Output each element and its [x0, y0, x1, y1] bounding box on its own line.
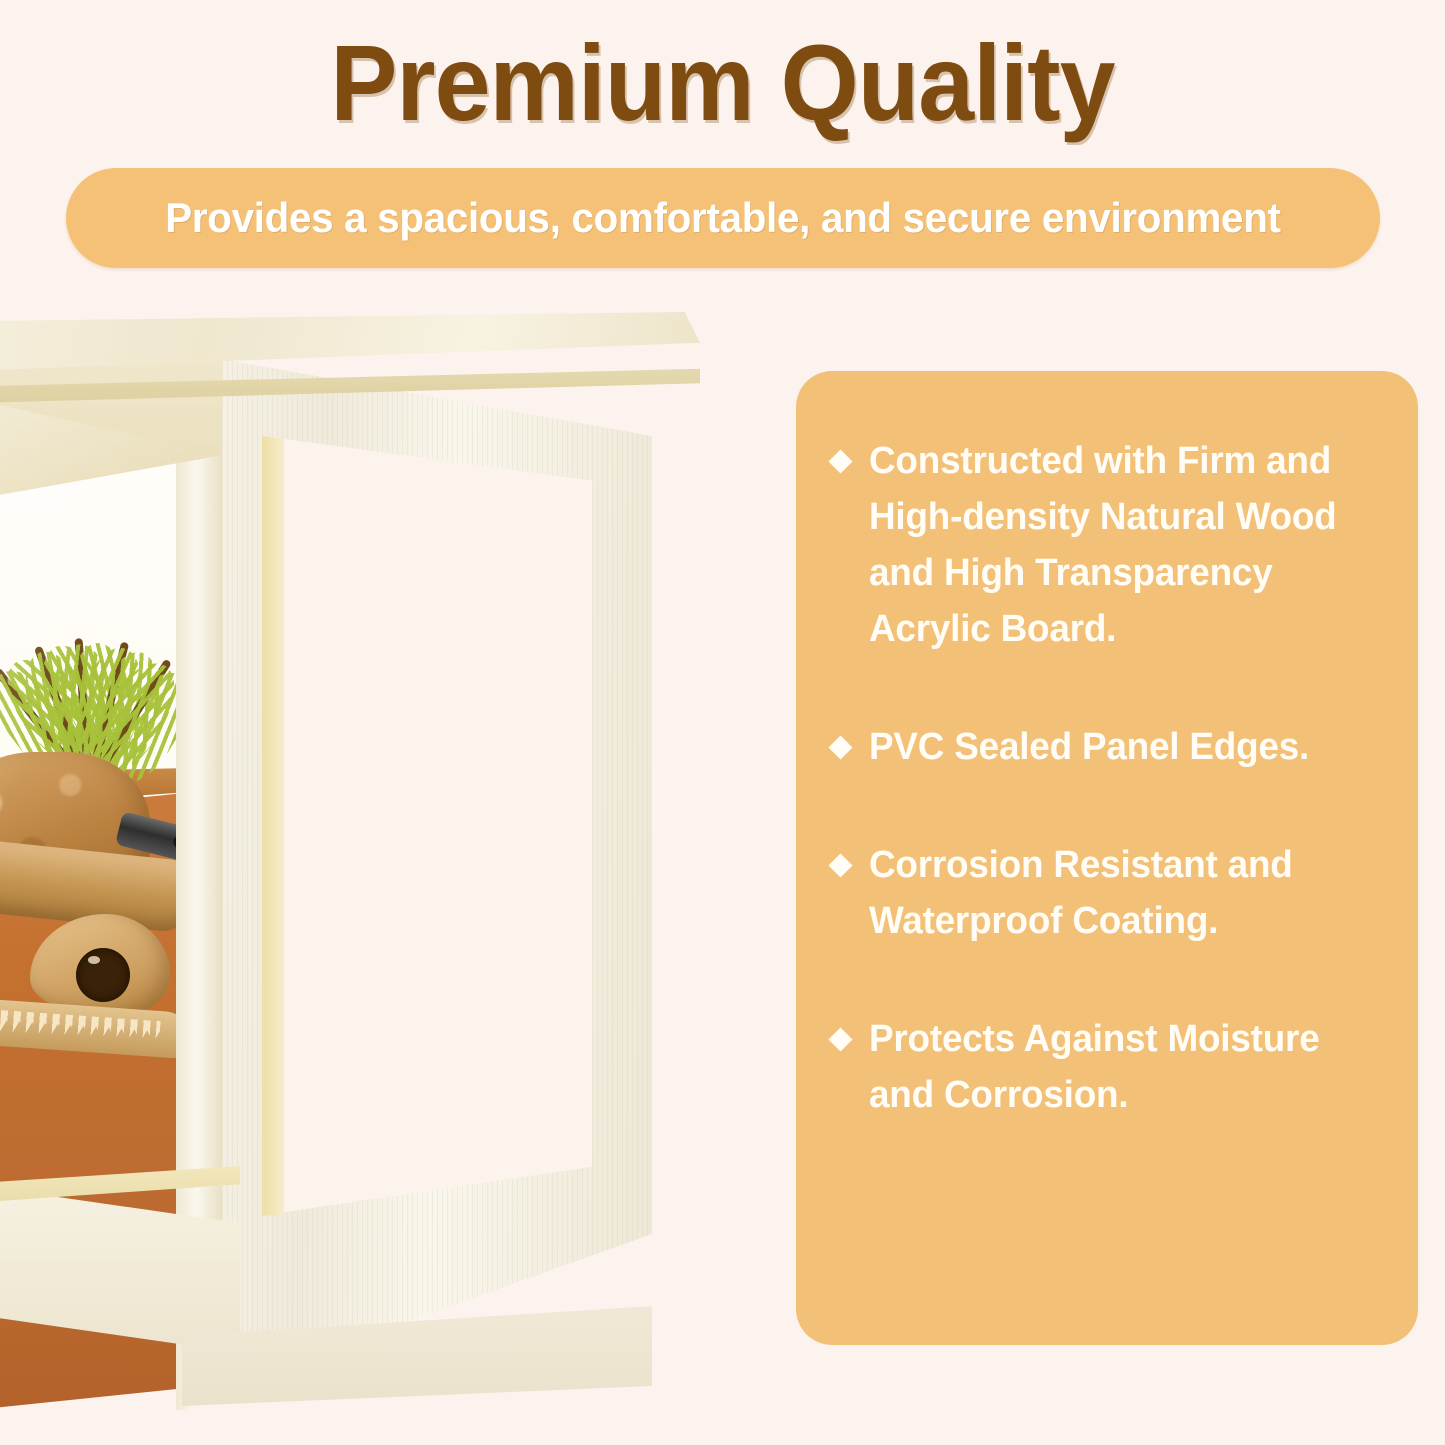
animal-skull-ornament-icon [0, 914, 190, 1044]
diamond-bullet-icon [828, 449, 852, 473]
feature-item: PVC Sealed Panel Edges. [832, 719, 1396, 775]
feature-text: Constructed with Firm and High-density N… [869, 433, 1380, 657]
feature-item: Constructed with Firm and High-density N… [832, 433, 1396, 657]
diamond-bullet-icon [828, 853, 852, 877]
feature-text: PVC Sealed Panel Edges. [869, 719, 1309, 775]
promo-page: Premium Quality Provides a spacious, com… [0, 0, 1445, 1445]
feature-text: Corrosion Resistant and Waterproof Coati… [869, 837, 1380, 949]
panel-window-edge [262, 436, 284, 1248]
panel-window-opening [262, 436, 592, 1248]
feature-item: Corrosion Resistant and Waterproof Coati… [832, 837, 1396, 949]
subtitle-text: Provides a spacious, comfortable, and se… [165, 195, 1280, 241]
feature-text: Protects Against Moisture and Corrosion. [869, 1011, 1380, 1123]
features-list: Constructed with Firm and High-density N… [832, 433, 1396, 1123]
feature-item: Protects Against Moisture and Corrosion. [832, 1011, 1396, 1123]
artificial-fern-icon [0, 538, 190, 788]
terrarium-illustration [0, 300, 700, 1410]
diamond-bullet-icon [828, 1027, 852, 1051]
subtitle-banner: Provides a spacious, comfortable, and se… [66, 168, 1380, 268]
page-title: Premium Quality [51, 24, 1395, 142]
product-photo [0, 300, 700, 1410]
features-panel: Constructed with Firm and High-density N… [796, 371, 1418, 1345]
diamond-bullet-icon [828, 735, 852, 759]
